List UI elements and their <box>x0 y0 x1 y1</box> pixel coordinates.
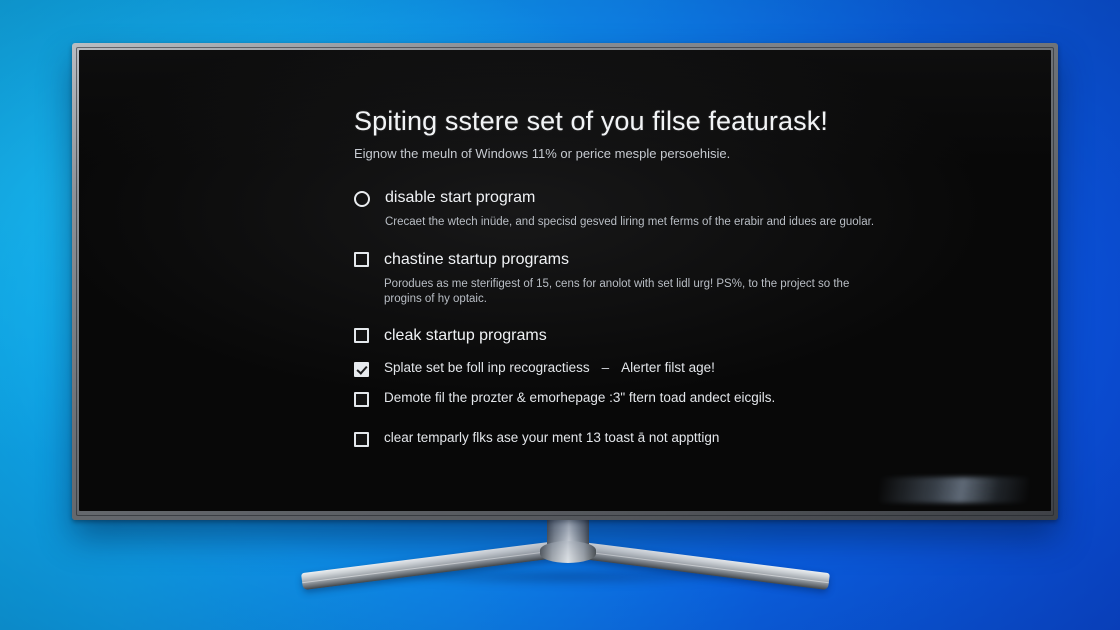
monitor-bezel: Spiting sstere set of you filse featuras… <box>72 43 1058 520</box>
option-row-cleak-startup-programs[interactable]: cleak startup programs <box>354 325 981 347</box>
page-title: Spiting sstere set of you filse featuras… <box>354 106 981 138</box>
option-label: cleak startup programs <box>384 325 981 347</box>
option-label: clear temparly flks ase your ment 13 toa… <box>384 429 981 447</box>
option-body: chastine startup programs Porodues as me… <box>384 249 981 308</box>
option-row-clear-temparly-flks[interactable]: clear temparly flks ase your ment 13 toa… <box>354 429 981 447</box>
option-label-group: Splate set be foll inp recogractiess–Ale… <box>384 359 981 377</box>
option-body: Demote fil the prozter & emorhepage :3" … <box>384 389 981 407</box>
option-label: Demote fil the prozter & emorhepage :3" … <box>384 389 981 407</box>
option-label: disable start program <box>385 187 981 209</box>
page-subtitle: Eignow the meuln of Windows 11% or peric… <box>354 146 981 163</box>
option-row-chastine-startup-programs[interactable]: chastine startup programs Porodues as me… <box>354 249 981 308</box>
checkbox-checked-icon[interactable] <box>354 362 369 377</box>
settings-page: Spiting sstere set of you filse featuras… <box>79 50 1051 482</box>
options-list: disable start program Crecaet the wtech … <box>354 187 981 448</box>
option-label-separator: – <box>590 359 622 377</box>
scene-background: Spiting sstere set of you filse featuras… <box>0 0 1120 630</box>
option-row-demote-fil-prozter[interactable]: Demote fil the prozter & emorhepage :3" … <box>354 389 981 407</box>
option-body: clear temparly flks ase your ment 13 toa… <box>384 429 981 447</box>
option-row-splate-set-recogractiess[interactable]: Splate set be foll inp recogractiess–Ale… <box>354 359 981 377</box>
checkbox-unchecked-icon[interactable] <box>354 432 369 447</box>
option-description: Porodues as me sterifigest of 15, cens f… <box>384 277 884 307</box>
option-description: Crecaet the wtech inüde, and specisd ges… <box>385 215 885 230</box>
option-label-suffix: Alerter filst age! <box>621 360 715 375</box>
radio-unchecked-icon[interactable] <box>354 191 370 207</box>
option-row-disable-start-program[interactable]: disable start program Crecaet the wtech … <box>354 187 981 231</box>
option-body: cleak startup programs <box>384 325 981 347</box>
monitor-stand-neck <box>547 514 589 558</box>
option-label: Splate set be foll inp recogractiess <box>384 360 590 375</box>
checkbox-unchecked-icon[interactable] <box>354 392 369 407</box>
checkbox-unchecked-icon[interactable] <box>354 252 369 267</box>
option-body: Splate set be foll inp recogractiess–Ale… <box>384 359 981 377</box>
option-label: chastine startup programs <box>384 249 981 271</box>
option-body: disable start program Crecaet the wtech … <box>385 187 981 231</box>
monitor-screen: Spiting sstere set of you filse featuras… <box>79 50 1051 511</box>
checkbox-unchecked-icon[interactable] <box>354 328 369 343</box>
